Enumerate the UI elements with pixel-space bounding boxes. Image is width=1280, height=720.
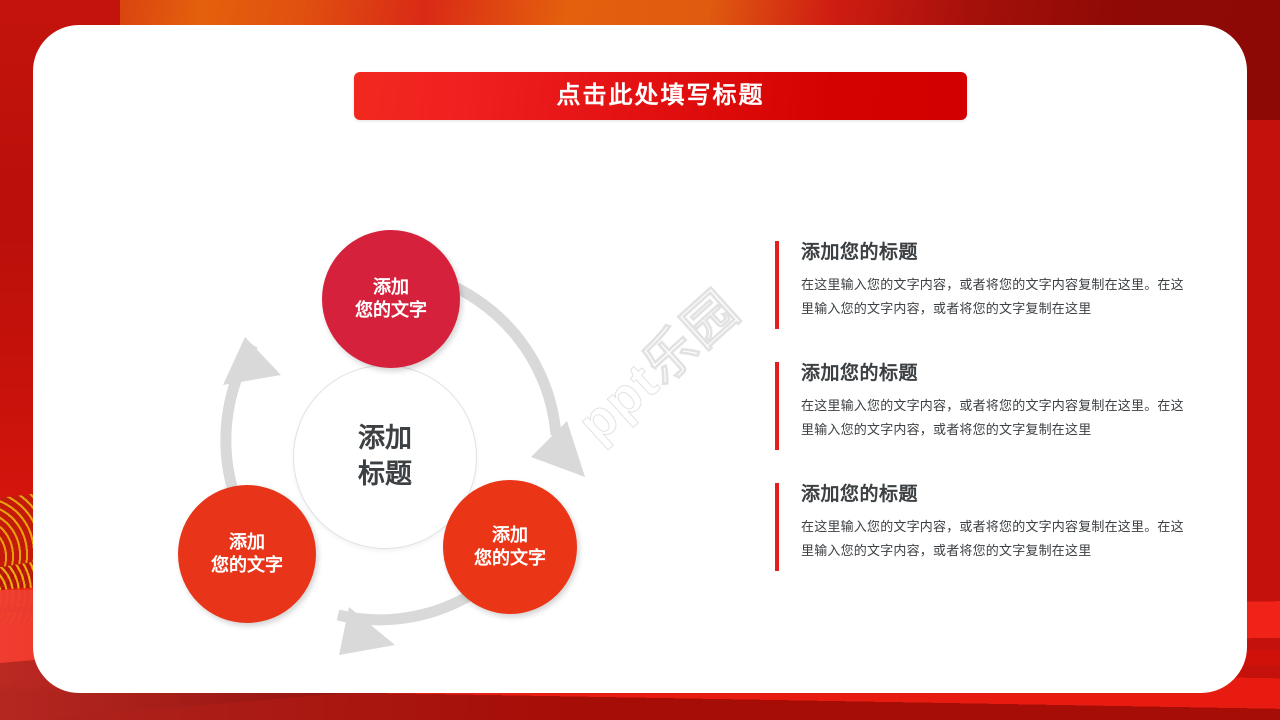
diagram-node-top[interactable]: 添加 您的文字 <box>322 230 460 368</box>
node-left-line2: 您的文字 <box>211 554 283 577</box>
node-left-line1: 添加 <box>229 531 265 554</box>
accent-bar <box>775 483 779 571</box>
accent-bar <box>775 362 779 450</box>
slide-canvas: 点击此处填写标题 ppt乐园 <box>0 0 1280 720</box>
content-block[interactable]: 添加您的标题 在这里输入您的文字内容，或者将您的文字内容复制在这里。在这里输入您… <box>775 358 1195 442</box>
content-block-body: 在这里输入您的文字内容，或者将您的文字内容复制在这里。在这里输入您的文字内容，或… <box>801 394 1195 442</box>
page-title: 点击此处填写标题 <box>557 84 765 108</box>
title-banner[interactable]: 点击此处填写标题 <box>354 72 967 120</box>
content-card: 点击此处填写标题 ppt乐园 <box>33 25 1247 693</box>
diagram-node-left[interactable]: 添加 您的文字 <box>178 485 316 623</box>
diagram-node-right[interactable]: 添加 您的文字 <box>443 480 577 614</box>
arrowhead-left <box>223 337 281 385</box>
content-block[interactable]: 添加您的标题 在这里输入您的文字内容，或者将您的文字内容复制在这里。在这里输入您… <box>775 479 1195 563</box>
center-label-line2: 标题 <box>358 457 412 493</box>
content-block-body: 在这里输入您的文字内容，或者将您的文字内容复制在这里。在这里输入您的文字内容，或… <box>801 515 1195 563</box>
center-label-line1: 添加 <box>358 421 412 457</box>
node-right-line1: 添加 <box>492 524 528 547</box>
content-block[interactable]: 添加您的标题 在这里输入您的文字内容，或者将您的文字内容复制在这里。在这里输入您… <box>775 237 1195 321</box>
node-top-line1: 添加 <box>373 276 409 299</box>
node-right-line2: 您的文字 <box>474 547 546 570</box>
content-block-heading: 添加您的标题 <box>801 237 1195 264</box>
content-block-list: 添加您的标题 在这里输入您的文字内容，或者将您的文字内容复制在这里。在这里输入您… <box>775 237 1195 563</box>
content-block-heading: 添加您的标题 <box>801 358 1195 385</box>
node-top-line2: 您的文字 <box>355 299 427 322</box>
cycle-diagram: 添加 标题 添加 您的文字 添加 您的文字 添加 您的文字 <box>133 185 673 685</box>
accent-bar <box>775 241 779 329</box>
content-block-heading: 添加您的标题 <box>801 479 1195 506</box>
content-block-body: 在这里输入您的文字内容，或者将您的文字内容复制在这里。在这里输入您的文字内容，或… <box>801 273 1195 321</box>
